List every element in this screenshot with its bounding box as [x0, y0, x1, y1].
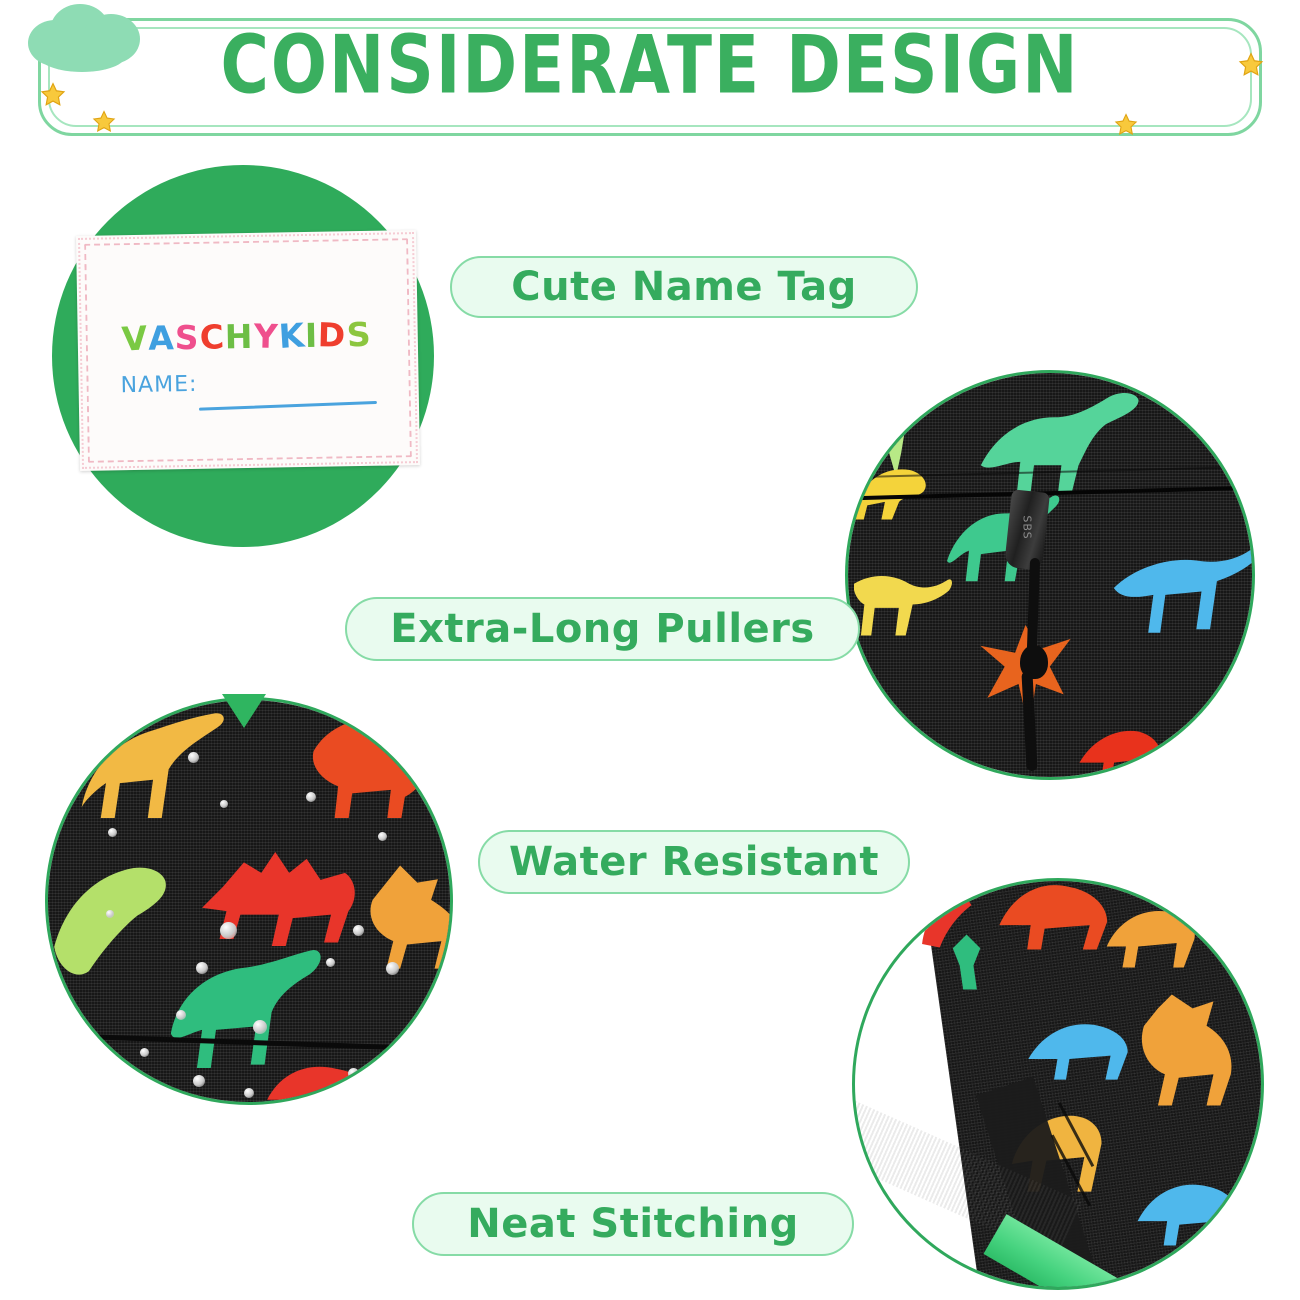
dino-shape [853, 463, 931, 523]
brand-letter-2: S [174, 318, 200, 358]
name-field-label: NAME: [120, 372, 197, 398]
dino-shape [854, 563, 954, 639]
page-title: CONSIDERATE DESIGN [0, 18, 1300, 112]
water-droplet [348, 1068, 359, 1079]
dino-shape [968, 383, 1148, 503]
dino-shape [303, 712, 433, 822]
water-droplet [378, 832, 387, 841]
feature-label: Extra-Long Pullers [390, 606, 814, 652]
brand-letter-3: C [198, 317, 226, 357]
water-droplet [386, 962, 399, 975]
dino-shape [1076, 721, 1166, 780]
feature-pill-stitching[interactable]: Neat Stitching [412, 1192, 854, 1256]
brand-letter-8: D [318, 315, 347, 355]
water-droplet [176, 1010, 186, 1020]
dino-shape [945, 931, 995, 993]
dino-shape [263, 1055, 378, 1105]
feature-pill-water[interactable]: Water Resistant [478, 830, 910, 894]
water-droplet [353, 925, 364, 936]
brand-letter-0: V [121, 318, 150, 359]
name-tag-label: VASCHYKIDS NAME: [76, 230, 420, 471]
water-droplet [108, 828, 117, 837]
zipper-brand-mark: SBS [1021, 515, 1034, 539]
zipper-puller-photo: SBS [845, 370, 1255, 780]
dino-shape [1123, 991, 1238, 1109]
feature-label: Water Resistant [509, 839, 879, 885]
header-banner: CONSIDERATE DESIGN [0, 0, 1300, 160]
water-droplet [326, 958, 335, 967]
dino-shape [54, 860, 169, 985]
dino-shape [1106, 533, 1255, 643]
dino-shape [348, 862, 453, 972]
fabric-corner-accent [222, 694, 266, 728]
feature-pill-pullers[interactable]: Extra-Long Pullers [345, 597, 860, 661]
water-droplet [220, 922, 237, 939]
water-droplet [193, 1075, 205, 1087]
star-icon [92, 110, 116, 134]
water-droplet [140, 1048, 149, 1057]
dino-shape [995, 878, 1115, 953]
feature-label: Neat Stitching [467, 1201, 798, 1247]
feature-pill-name-tag[interactable]: Cute Name Tag [450, 256, 918, 318]
brand-letter-1: A [148, 318, 175, 357]
brand-letter-5: Y [253, 316, 279, 356]
water-droplet [196, 962, 208, 974]
water-droplet [188, 752, 199, 763]
water-droplet [106, 910, 114, 918]
brand-letter-4: H [225, 317, 254, 356]
water-droplet [253, 1020, 267, 1034]
brand-wordmark: VASCHYKIDS [121, 315, 371, 358]
dino-shape [1023, 1011, 1133, 1083]
infographic-canvas: CONSIDERATE DESIGN VASCHYKIDS NAME: Cute… [0, 0, 1300, 1300]
water-resistant-fabric-photo [45, 697, 453, 1105]
brand-letter-9: S [345, 314, 372, 354]
brand-letter-6: K [277, 315, 306, 356]
water-droplet [244, 1088, 254, 1098]
water-droplet [220, 800, 228, 808]
star-icon [1114, 113, 1138, 137]
water-droplet [306, 792, 316, 802]
feature-label: Cute Name Tag [511, 264, 856, 310]
dino-shape [1133, 1169, 1243, 1249]
strap-stitching-photo [852, 878, 1264, 1290]
dino-shape [78, 710, 228, 825]
dino-shape [1103, 901, 1198, 971]
